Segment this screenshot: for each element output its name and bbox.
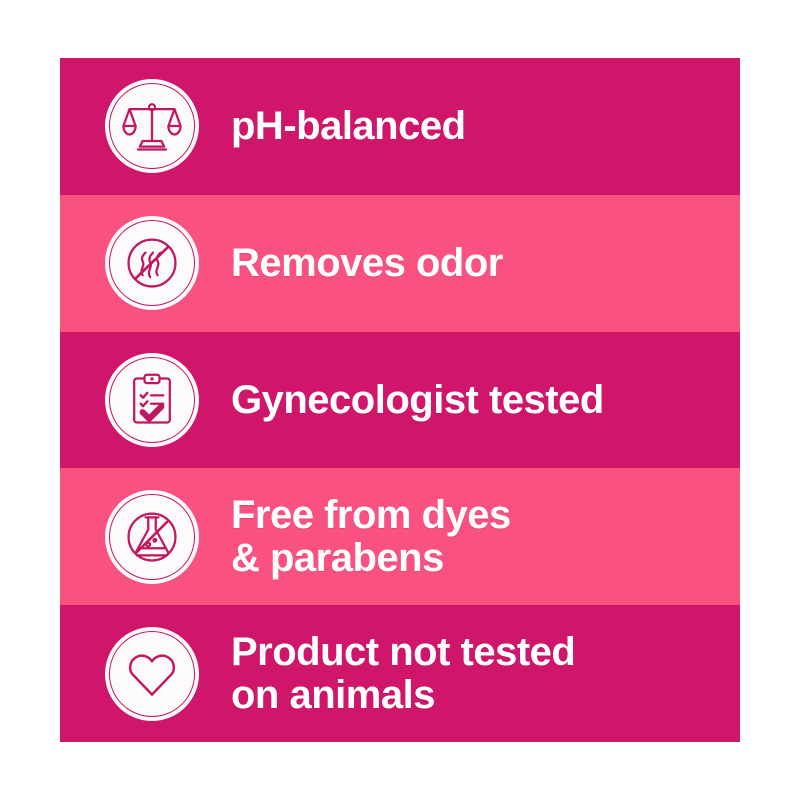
feature-row-not-tested-on-animals: Product not tested on animals xyxy=(60,605,740,742)
feature-list-panel: pH-balanced Removes odor xyxy=(60,58,740,742)
feature-label: Free from dyes & parabens xyxy=(231,494,511,579)
feature-row-removes-odor: Removes odor xyxy=(60,195,740,332)
no-chemical-flask-icon xyxy=(105,490,199,584)
feature-label: pH-balanced xyxy=(231,105,466,147)
no-odor-icon xyxy=(105,216,199,310)
feature-row-ph-balanced: pH-balanced xyxy=(60,58,740,195)
feature-row-gynecologist-tested: Gynecologist tested xyxy=(60,332,740,469)
feature-label: Removes odor xyxy=(231,242,503,284)
balance-scales-icon xyxy=(105,79,199,173)
feature-label: Gynecologist tested xyxy=(231,379,604,421)
clipboard-checklist-icon xyxy=(105,353,199,447)
heart-icon xyxy=(105,627,199,721)
feature-row-free-from-dyes: Free from dyes & parabens xyxy=(60,468,740,605)
feature-label: Product not tested on animals xyxy=(231,631,575,716)
